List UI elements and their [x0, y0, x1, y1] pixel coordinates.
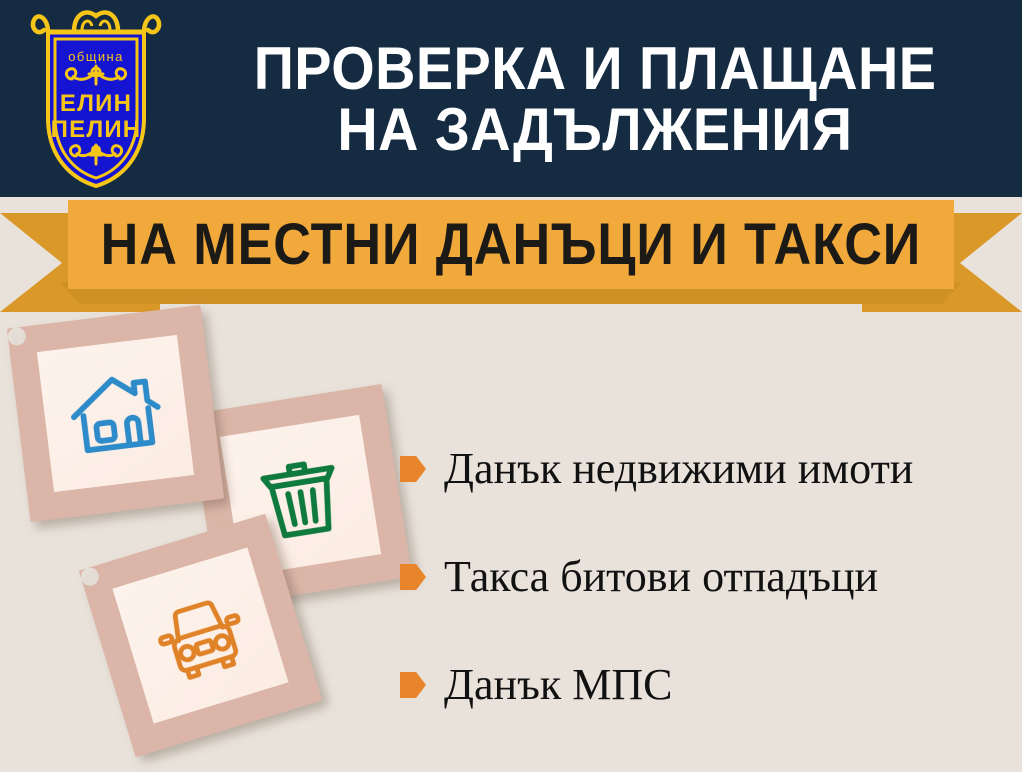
coat-of-arms-icon: община ЕЛИН ПЕЛИН [26, 6, 166, 191]
list-item[interactable]: Данък недвижими имоти [400, 415, 1020, 523]
arrow-bullet-icon [400, 564, 426, 590]
ribbon-label: НА МЕСТНИ ДАНЪЦИ И ТАКСИ [101, 216, 922, 274]
coat-of-arms: община ЕЛИН ПЕЛИН [26, 6, 166, 191]
poster-canvas: община ЕЛИН ПЕЛИН [0, 0, 1022, 772]
list-item[interactable]: Такса битови отпадъци [400, 523, 1020, 631]
poster-title: ПРОВЕРКА И ПЛАЩАНЕ НА ЗАДЪЛЖЕНИЯ [180, 14, 1010, 184]
house-icon [62, 360, 169, 467]
crest-label-elin: ЕЛИН [60, 90, 132, 117]
ribbon-banner: НА МЕСТНИ ДАНЪЦИ И ТАКСИ [68, 200, 954, 289]
tax-type-list: Данък недвижими имоти Такса битови отпад… [400, 415, 1020, 739]
crest-label-pelin: ПЕЛИН [51, 116, 142, 143]
car-icon [141, 576, 261, 696]
title-line-2: НА ЗАДЪЛЖЕНИЯ [337, 99, 852, 160]
arrow-bullet-icon [400, 672, 426, 698]
list-item-label: Данък недвижими имоти [444, 447, 913, 491]
subtitle-ribbon: НА МЕСТНИ ДАНЪЦИ И ТАКСИ [0, 196, 1022, 314]
crest-label-obshtina: община [68, 49, 123, 64]
title-line-1: ПРОВЕРКА И ПЛАЩАНЕ [254, 38, 937, 99]
stamp-card-property [7, 305, 224, 522]
list-item-label: Данък МПС [444, 663, 672, 707]
list-item[interactable]: Данък МПС [400, 631, 1020, 739]
list-item-label: Такса битови отпадъци [444, 555, 878, 599]
arrow-bullet-icon [400, 456, 426, 482]
stamp-paper [37, 335, 194, 492]
